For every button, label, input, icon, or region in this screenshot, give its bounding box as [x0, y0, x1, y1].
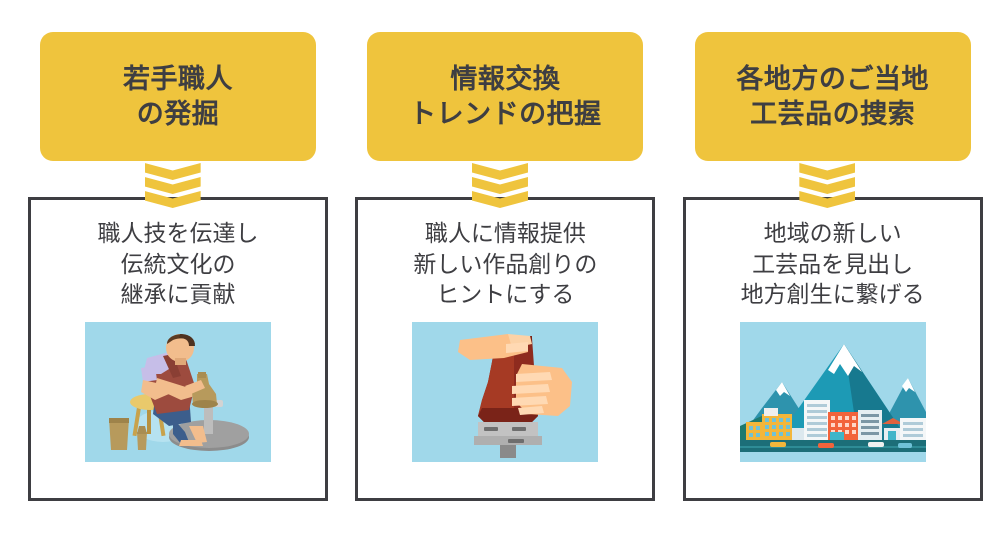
potter-at-wheel-illustration [85, 322, 271, 462]
panel-description-line: 新しい作品創りの [413, 249, 597, 280]
header-card-local-crafts-search: 各地方のご当地 工芸品の捜索 [695, 32, 971, 161]
header-card-line: 工芸品の捜索 [750, 97, 915, 132]
hands-shaping-vase-illustration [412, 322, 598, 462]
header-card-line: 情報交換 [450, 62, 560, 97]
header-card-line: トレンドの把握 [409, 97, 602, 132]
header-card-young-artisans: 若手職人 の発掘 [40, 32, 316, 161]
chevron-down-icon [799, 163, 855, 180]
mountain-cityscape-illustration [740, 322, 926, 462]
header-card-line: 若手職人 [123, 62, 233, 97]
header-card-line: 各地方のご当地 [736, 62, 929, 97]
content-panel-local-crafts-search: 地域の新しい 工芸品を見出し 地方創生に繋げる [683, 197, 983, 501]
panel-description-line: 伝統文化の [98, 249, 259, 280]
content-panel-information-exchange: 職人に情報提供 新しい作品創りの ヒントにする [355, 197, 655, 501]
header-card-information-exchange: 情報交換 トレンドの把握 [367, 32, 643, 161]
panel-description-line: 地方創生に繋げる [741, 279, 925, 310]
panel-description: 職人技を伝達し 伝統文化の 継承に貢献 [98, 218, 259, 310]
panel-description-line: 職人技を伝達し [98, 218, 259, 249]
chevron-down-icon [472, 163, 528, 180]
diagram-column-local-crafts-search: 各地方のご当地 工芸品の捜索 地域の新しい 工芸品を見出し 地方創生に繋げる [683, 0, 972, 546]
diagram-column-information-exchange: 情報交換 トレンドの把握 職人に情報提供 新しい作品創りの ヒントにする [355, 0, 644, 546]
chevron-down-connector [799, 163, 855, 209]
diagram-column-young-artisans: 若手職人 の発掘 職人技を伝達し 伝統文化の 継承に貢献 [28, 0, 317, 546]
chevron-down-connector [145, 163, 201, 209]
chevron-down-icon [145, 163, 201, 180]
panel-description-line: ヒントにする [413, 279, 597, 310]
panel-description-line: 職人に情報提供 [413, 218, 597, 249]
panel-description: 地域の新しい 工芸品を見出し 地方創生に繋げる [741, 218, 925, 310]
chevron-down-connector [472, 163, 528, 209]
panel-description: 職人に情報提供 新しい作品創りの ヒントにする [413, 218, 597, 310]
three-column-diagram: 若手職人 の発掘 職人技を伝達し 伝統文化の 継承に貢献 [0, 0, 1000, 546]
panel-description-line: 継承に貢献 [98, 279, 259, 310]
panel-description-line: 地域の新しい [741, 218, 925, 249]
header-card-line: の発掘 [137, 97, 220, 132]
content-panel-young-artisans: 職人技を伝達し 伝統文化の 継承に貢献 [28, 197, 328, 501]
panel-description-line: 工芸品を見出し [741, 249, 925, 280]
